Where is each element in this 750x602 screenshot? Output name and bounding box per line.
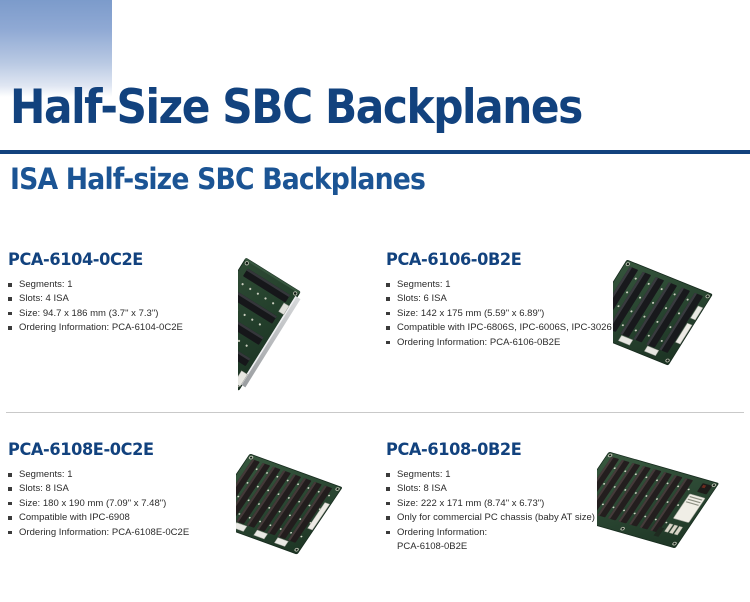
bullet-square-icon: [386, 312, 390, 316]
bullet-square-icon: [8, 283, 12, 287]
spec-item: Segments: 1: [8, 468, 238, 482]
bullet-square-icon: [8, 312, 12, 316]
bullet-square-icon: [8, 502, 12, 506]
bullet-square-icon: [386, 297, 390, 301]
title-divider-rule: [0, 150, 750, 154]
product-title: PCA-6106-0B2E: [386, 250, 521, 270]
spec-text: Ordering Information: PCA-6106-0B2E: [397, 337, 560, 348]
spec-text: Segments: 1: [19, 469, 73, 480]
bullet-square-icon: [8, 531, 12, 535]
spec-text: Size: 222 x 171 mm (8.74" x 6.73"): [397, 498, 544, 509]
product-grid: PCA-6104-0C2E Segments: 1 Slots: 4 ISA S…: [0, 240, 750, 602]
spec-text: Size: 94.7 x 186 mm (3.7" x 7.3"): [19, 308, 158, 319]
spec-item: Segments: 1: [386, 278, 636, 292]
spec-text: Size: 180 x 190 mm (7.09" x 7.48"): [19, 498, 166, 509]
spec-item: Ordering Information: PCA-6108E-0C2E: [8, 526, 238, 540]
bullet-square-icon: [8, 516, 12, 520]
row-divider: [6, 412, 744, 413]
spec-item: Compatible with IPC-6806S, IPC-6006S, IP…: [386, 321, 636, 335]
product-row: PCA-6104-0C2E Segments: 1 Slots: 4 ISA S…: [0, 240, 750, 412]
bullet-square-icon: [386, 326, 390, 330]
pca-6108e-0c2e-board-image: [236, 448, 374, 578]
pca-6106-0b2e-board-image: [613, 250, 748, 400]
product-title: PCA-6108-0B2E: [386, 440, 521, 460]
bullet-square-icon: [386, 487, 390, 491]
spec-item: Slots: 6 ISA: [386, 292, 636, 306]
page-title: Half-Size SBC Backplanes: [10, 82, 582, 134]
spec-item: Size: 142 x 175 mm (5.59" x 6.89"): [386, 307, 636, 321]
product-spec-list: Segments: 1 Slots: 8 ISA Size: 180 x 190…: [8, 468, 238, 540]
bullet-square-icon: [386, 502, 390, 506]
spec-item: Slots: 8 ISA: [8, 482, 238, 496]
page-subtitle: ISA Half-size SBC Backplanes: [10, 162, 425, 196]
spec-text: Compatible with IPC-6908: [19, 512, 130, 523]
product-spec-list: Segments: 1 Slots: 4 ISA Size: 94.7 x 18…: [8, 278, 238, 336]
bullet-square-icon: [386, 473, 390, 477]
spec-item: Slots: 4 ISA: [8, 292, 238, 306]
spec-text: Segments: 1: [19, 279, 73, 290]
bullet-square-icon: [386, 341, 390, 345]
bullet-square-icon: [386, 283, 390, 287]
spec-item: Segments: 1: [8, 278, 238, 292]
spec-item: Size: 94.7 x 186 mm (3.7" x 7.3"): [8, 307, 238, 321]
spec-text: Slots: 8 ISA: [19, 483, 69, 494]
spec-text: Slots: 4 ISA: [19, 293, 69, 304]
spec-text: Size: 142 x 175 mm (5.59" x 6.89"): [397, 308, 544, 319]
product-card-pca-6104-0c2e: PCA-6104-0C2E Segments: 1 Slots: 4 ISA S…: [0, 240, 375, 412]
spec-text: Ordering Information: PCA-6108E-0C2E: [19, 527, 189, 538]
product-spec-list: Segments: 1 Slots: 6 ISA Size: 142 x 175…: [386, 278, 636, 350]
bullet-square-icon: [8, 297, 12, 301]
bullet-square-icon: [8, 326, 12, 330]
bullet-square-icon: [8, 487, 12, 491]
spec-item: Size: 180 x 190 mm (7.09" x 7.48"): [8, 497, 238, 511]
spec-item: Compatible with IPC-6908: [8, 511, 238, 525]
spec-text: Segments: 1: [397, 469, 451, 480]
product-title: PCA-6108E-0C2E: [8, 440, 154, 460]
spec-item: Ordering Information: PCA-6104-0C2E: [8, 321, 238, 335]
product-row: PCA-6108E-0C2E Segments: 1 Slots: 8 ISA …: [0, 430, 750, 602]
bullet-square-icon: [386, 531, 390, 535]
product-card-pca-6108-0b2e: PCA-6108-0B2E Segments: 1 Slots: 8 ISA S…: [375, 430, 750, 602]
bullet-square-icon: [8, 473, 12, 477]
spec-text: Compatible with IPC-6806S, IPC-6006S, IP…: [397, 322, 612, 333]
product-title: PCA-6104-0C2E: [8, 250, 143, 270]
pca-6104-0c2e-board-image: [238, 252, 373, 402]
product-card-pca-6108e-0c2e: PCA-6108E-0C2E Segments: 1 Slots: 8 ISA …: [0, 430, 375, 602]
spec-text: Slots: 8 ISA: [397, 483, 447, 494]
spec-text: Only for commercial PC chassis (baby AT …: [397, 512, 595, 523]
spec-text: Segments: 1: [397, 279, 451, 290]
spec-text: Ordering Information: PCA-6104-0C2E: [19, 322, 183, 333]
pca-6108-0b2e-board-image: [597, 444, 747, 576]
product-card-pca-6106-0b2e: PCA-6106-0B2E Segments: 1 Slots: 6 ISA S…: [375, 240, 750, 412]
spec-text: Slots: 6 ISA: [397, 293, 447, 304]
spec-text: Ordering Information:: [397, 527, 487, 538]
bullet-square-icon: [386, 516, 390, 520]
spec-item: Ordering Information: PCA-6106-0B2E: [386, 336, 636, 350]
